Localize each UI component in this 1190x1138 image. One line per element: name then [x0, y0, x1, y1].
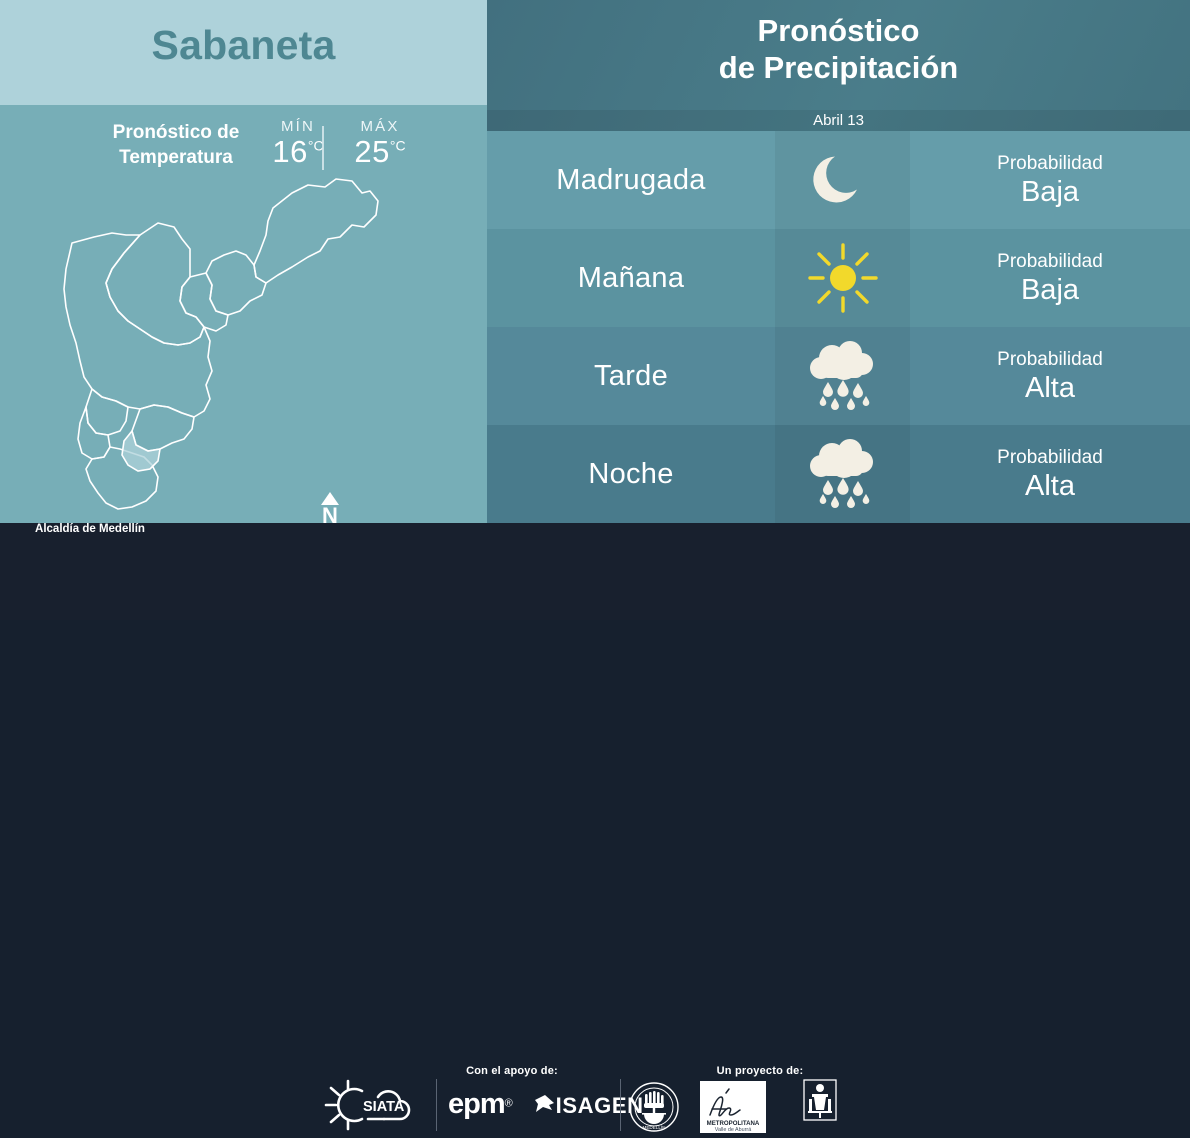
epm-wordmark: epm: [448, 1088, 505, 1120]
city-header-band: Sabaneta: [0, 0, 487, 105]
project-caption: Un proyecto de:: [640, 1065, 880, 1077]
max-value: 25: [354, 134, 389, 169]
map-region-barbosa: [254, 179, 378, 283]
table-row: Mañana: [487, 229, 1190, 327]
map-region-la-estrella: [78, 407, 110, 459]
table-row: Tarde: [487, 327, 1190, 425]
probability-value: Baja: [1021, 274, 1079, 306]
medellin-seal-logo: MEDELLÍN: [628, 1081, 680, 1133]
map-region-bello: [106, 223, 204, 345]
table-row: Madrugada Probabilidad Baja: [487, 131, 1190, 229]
map-region-envigado: [132, 405, 194, 451]
probability-value: Baja: [1021, 176, 1079, 208]
area-metropolitana-logo: METROPOLITANA Valle de Aburrá: [700, 1081, 766, 1133]
precipitation-panel: Pronóstico de Precipitación Abril 13 Mad…: [487, 0, 1190, 523]
footer-divider: [436, 1079, 437, 1131]
max-label: MÁX: [340, 118, 420, 135]
period-cell: Tarde: [487, 327, 775, 425]
map-svg: [40, 165, 420, 520]
alcaldia-label: Alcaldía de Medellín: [0, 523, 180, 535]
area-line2: Valle de Aburrá: [715, 1127, 751, 1133]
isagen-mark-icon: [534, 1094, 556, 1116]
weather-icon-cell: [775, 131, 910, 229]
min-label: MÍN: [258, 118, 338, 135]
siata-logo-icon: SIATA: [322, 1079, 432, 1131]
probability-value: Alta: [1025, 372, 1075, 404]
weather-icon-cell: [775, 229, 910, 327]
period-label: Tarde: [594, 360, 668, 393]
min-temperature: MÍN 16°C: [258, 118, 338, 170]
period-cell: Noche: [487, 425, 775, 523]
forecast-table: Madrugada Probabilidad Baja Mañana: [487, 131, 1190, 523]
period-cell: Mañana: [487, 229, 775, 327]
table-row: Noche: [487, 425, 1190, 523]
epm-registered-mark: ®: [505, 1098, 513, 1110]
area-line1: METROPOLITANA: [707, 1120, 760, 1127]
precipitation-title: Pronóstico de Precipitación: [487, 12, 1190, 86]
probability-cell: Probabilidad Alta: [910, 425, 1190, 523]
max-unit: °C: [390, 138, 406, 154]
weather-infographic: Sabaneta Pronóstico de Temperatura MÍN 1…: [0, 0, 1190, 620]
weather-icon-cell: [775, 327, 910, 425]
temperature-panel: Sabaneta Pronóstico de Temperatura MÍN 1…: [0, 0, 487, 523]
period-cell: Madrugada: [487, 131, 775, 229]
probability-cell: Probabilidad Baja: [910, 131, 1190, 229]
temperature-title: Pronóstico de Temperatura: [86, 120, 266, 170]
probability-value: Alta: [1025, 470, 1075, 502]
siata-logo: SIATA: [322, 1079, 432, 1131]
weather-icon-cell: [775, 425, 910, 523]
probability-label: Probabilidad: [997, 446, 1103, 470]
medellin-seal-icon: MEDELLÍN: [628, 1081, 680, 1133]
period-label: Madrugada: [556, 164, 705, 197]
max-temperature: MÁX 25°C: [340, 118, 420, 170]
min-value: 16: [272, 134, 307, 169]
precipitation-title-line2: de Precipitación: [719, 50, 958, 85]
map-region-sabaneta-highlighted: [122, 431, 160, 471]
sun-icon: [806, 241, 880, 315]
temperature-divider: [322, 126, 324, 170]
support-caption: Con el apoyo de:: [392, 1065, 632, 1077]
probability-cell: Probabilidad Alta: [910, 327, 1190, 425]
alcaldia-crest-logo: [800, 1079, 840, 1121]
epm-isagen-logos: epm® ISAGEN: [448, 1088, 644, 1122]
probability-label: Probabilidad: [997, 152, 1103, 176]
alcaldia-crest-icon: [800, 1079, 840, 1121]
period-label: Mañana: [578, 262, 685, 295]
probability-label: Probabilidad: [997, 250, 1103, 274]
footer: Con el apoyo de: Un proyecto de: SIATA: [0, 523, 1190, 620]
page-title: Sabaneta: [0, 22, 487, 69]
period-label: Noche: [588, 458, 673, 491]
medellin-seal-text: MEDELLÍN: [643, 1124, 666, 1130]
forecast-date: Abril 13: [487, 110, 1190, 132]
temperature-title-line1: Pronóstico de: [113, 122, 240, 143]
rain-cloud-icon: [802, 338, 884, 414]
rain-cloud-icon: [802, 436, 884, 512]
north-arrow-icon: N: [312, 492, 348, 526]
area-metropolitana-icon: METROPOLITANA Valle de Aburrá: [700, 1081, 766, 1133]
probability-cell: Probabilidad Baja: [910, 229, 1190, 327]
precipitation-title-line1: Pronóstico: [758, 13, 920, 48]
footer-divider: [620, 1079, 621, 1131]
moon-icon: [808, 145, 878, 215]
siata-wordmark: SIATA: [363, 1099, 405, 1115]
valle-de-aburra-map: N: [40, 165, 420, 520]
probability-label: Probabilidad: [997, 348, 1103, 372]
map-region-girardota: [206, 251, 266, 315]
